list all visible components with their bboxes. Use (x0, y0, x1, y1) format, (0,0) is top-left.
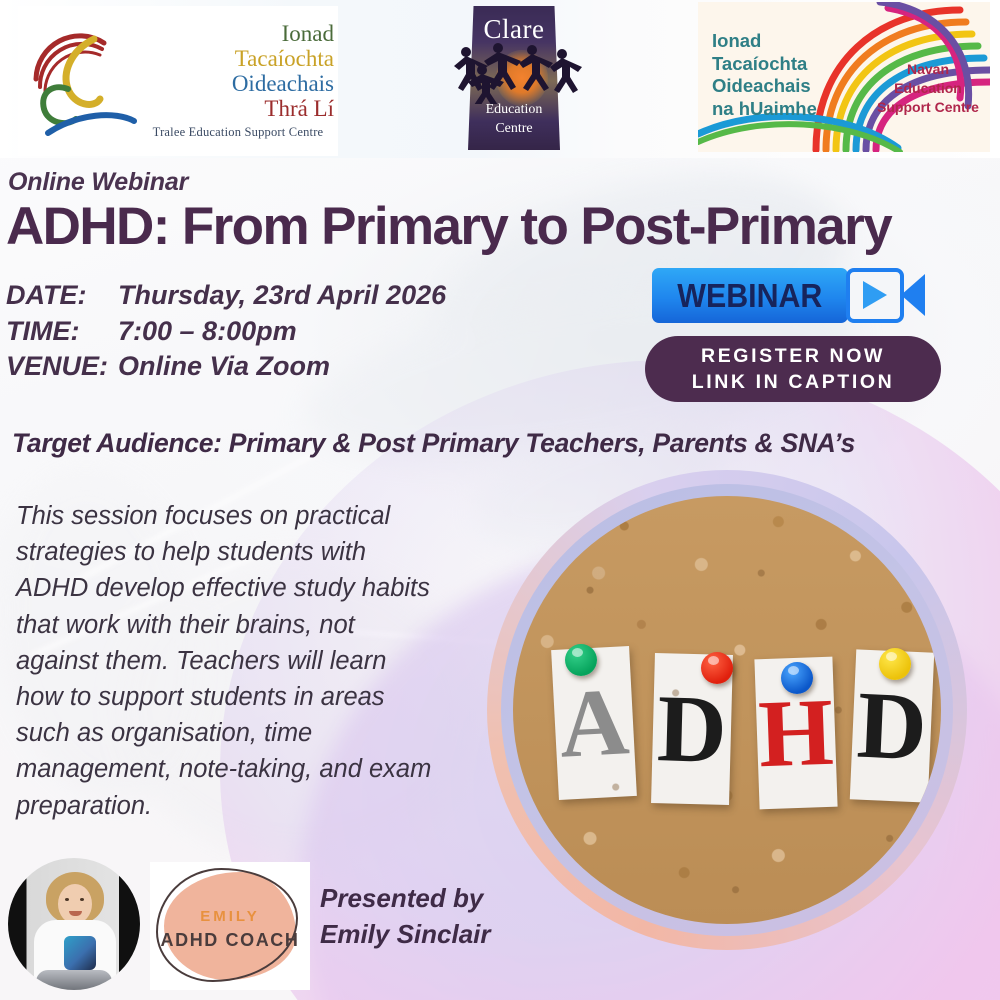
navan-english-line-1: Navan (868, 60, 988, 79)
date-value: Thursday, 23rd April 2026 (118, 278, 446, 314)
time-value: 7:00 – 8:00pm (118, 314, 297, 350)
tralee-line-3: Oideachais (142, 72, 338, 97)
video-camera-icon (846, 268, 924, 323)
corkboard-surface: A D H D (513, 496, 941, 924)
webinar-label: WEBINAR (677, 277, 822, 315)
emily-adhd-coach-logo: EMILY ADHD COACH (150, 862, 310, 990)
venue-value: Online Via Zoom (118, 349, 330, 385)
tralee-swirl-icon (18, 21, 138, 141)
date-label: DATE: (6, 278, 118, 314)
clare-title: Clare (438, 14, 590, 45)
venue-label: VENUE: (6, 349, 118, 385)
letter-note-d2: D (850, 649, 934, 802)
target-audience: Target Audience: Primary & Post Primary … (12, 428, 855, 459)
play-icon (863, 281, 887, 309)
adhd-corkboard-photo: A D H D (487, 470, 967, 950)
presented-by-label: Presented by (320, 880, 491, 916)
webinar-poster: Ionad Tacaíochta Oideachais Thrá Lí Tral… (0, 0, 1000, 1000)
navan-irish-line-1: Ionad (712, 30, 817, 53)
navan-irish-line-4: na hUaimhe (712, 98, 817, 121)
navan-english-text: Navan Education Support Centre (868, 60, 988, 117)
tralee-line-4: Thrá Lí (142, 97, 338, 122)
time-label: TIME: (6, 314, 118, 350)
navan-english-line-3: Support Centre (868, 98, 988, 117)
pushpin-blue-icon (781, 662, 813, 694)
clare-education-centre-logo: Clare Education Centre (438, 2, 590, 154)
tralee-education-support-centre-logo: Ionad Tacaíochta Oideachais Thrá Lí Tral… (18, 6, 338, 156)
presenter-name: Emily Sinclair (320, 916, 491, 952)
presenter-byline: Presented by Emily Sinclair (320, 880, 491, 953)
tralee-line-2: Tacaíochta (142, 47, 338, 72)
pushpin-yellow-icon (879, 648, 911, 680)
clare-subtitle-2: Centre (438, 121, 590, 137)
navan-irish-line-2: Tacaíochta (712, 53, 817, 76)
detail-row-time: TIME: 7:00 – 8:00pm (6, 314, 446, 350)
clare-dancing-figures-icon (446, 42, 582, 104)
coach-logo-line-2: ADHD COACH (150, 930, 310, 951)
presenter-avatar (8, 858, 140, 990)
detail-row-date: DATE: Thursday, 23rd April 2026 (6, 278, 446, 314)
navan-irish-text: Ionad Tacaíochta Oideachais na hUaimhe (712, 30, 817, 120)
register-now-button[interactable]: REGISTER NOW LINK IN CAPTION (645, 336, 941, 402)
session-description: This session focuses on practical strate… (16, 498, 436, 824)
letter-note-h: H (754, 657, 837, 810)
navan-english-line-2: Education (868, 79, 988, 98)
logo-strip: Ionad Tacaíochta Oideachais Thrá Lí Tral… (0, 0, 1000, 158)
pushpin-green-icon (565, 644, 597, 676)
webinar-badge: WEBINAR (652, 266, 920, 326)
page-title: ADHD: From Primary to Post-Primary (6, 196, 998, 257)
coach-logo-line-1: EMILY (150, 908, 310, 925)
tralee-line-1: Ionad (142, 22, 338, 47)
register-line-1: REGISTER NOW (701, 343, 885, 369)
kicker-label: Online Webinar (8, 168, 188, 197)
navan-irish-line-3: Oideachais (712, 75, 817, 98)
pushpin-red-icon (701, 652, 733, 684)
webinar-label-bar: WEBINAR (652, 268, 848, 323)
event-details: DATE: Thursday, 23rd April 2026 TIME: 7:… (6, 278, 446, 385)
letter-note-a: A (551, 646, 637, 800)
letter-note-d1: D (651, 653, 733, 805)
navan-education-support-centre-logo: Ionad Tacaíochta Oideachais na hUaimhe N… (698, 2, 990, 152)
clare-subtitle-1: Education (438, 102, 590, 118)
register-line-2: LINK IN CAPTION (692, 369, 895, 395)
tralee-subtitle: Tralee Education Support Centre (142, 121, 338, 140)
tralee-logo-text: Ionad Tacaíochta Oideachais Thrá Lí Tral… (138, 22, 338, 140)
pinned-letters: A D H D (513, 496, 941, 924)
detail-row-venue: VENUE: Online Via Zoom (6, 349, 446, 385)
